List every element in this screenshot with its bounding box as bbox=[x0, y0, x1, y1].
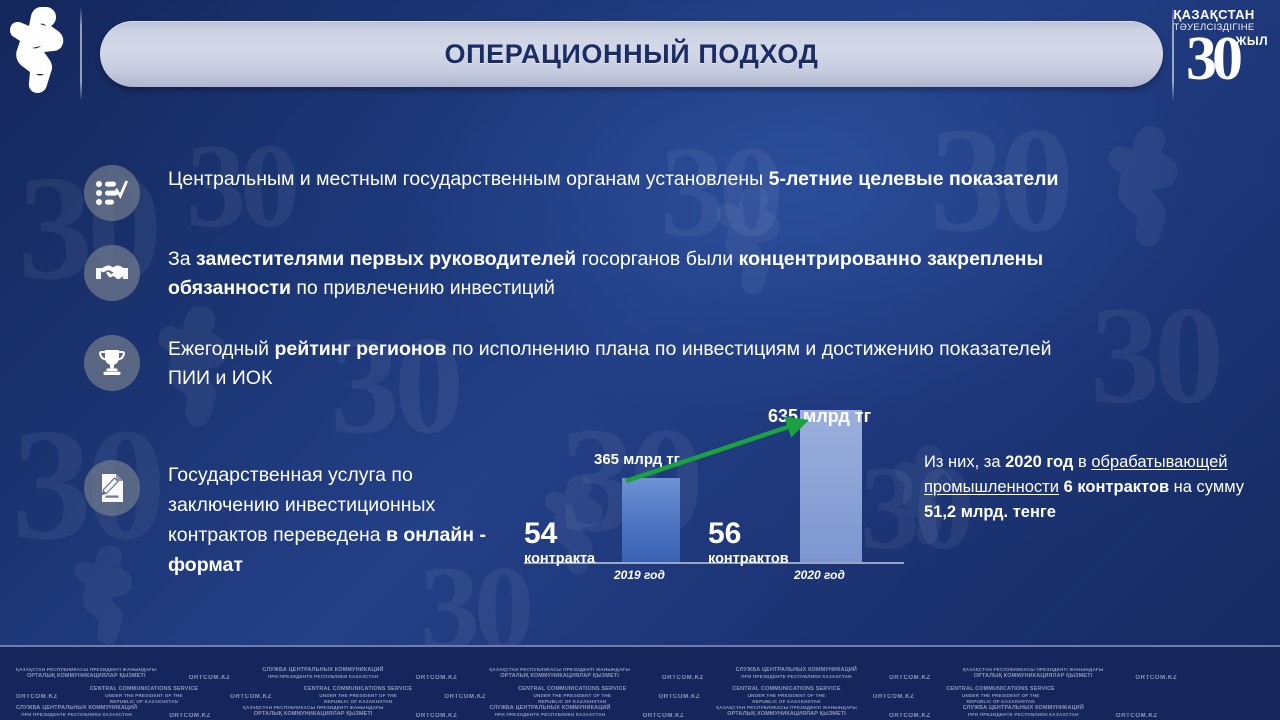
slide-header: ОПЕРАЦИОННЫЙ ПОДХОД ҚАЗАҚСТАН ТӘУЕЛСІЗДІ… bbox=[0, 0, 1280, 108]
bullet-2-part-0: За bbox=[168, 248, 196, 270]
note-part-6: на сумму bbox=[1169, 478, 1244, 496]
footer-en-text: CENTRAL COMMUNICATIONS SERVICEUNDER THE … bbox=[288, 686, 428, 705]
anniversary-unit: ЖЫЛ bbox=[1235, 34, 1268, 48]
footer-en-text: CENTRAL COMMUNICATIONS SERVICEUNDER THE … bbox=[502, 686, 642, 705]
bullet-text-targets: Центральным и местным государственным ор… bbox=[168, 165, 1059, 194]
page-title: ОПЕРАЦИОННЫЙ ПОДХОД bbox=[445, 39, 819, 70]
watermark-leopard-icon bbox=[1090, 120, 1200, 270]
footer-brand: ORTCOM.KZ bbox=[646, 667, 720, 685]
footer-brand: ORTCOM.KZ bbox=[400, 705, 474, 720]
footer-brand: ORTCOM.KZ bbox=[0, 686, 74, 704]
bullet-2-part-2: госорганов были bbox=[582, 248, 739, 270]
checklist-icon bbox=[84, 165, 140, 221]
footer-en-text: CENTRAL COMMUNICATIONS SERVICEUNDER THE … bbox=[930, 686, 1070, 705]
footer-brand: ORTCOM.KZ bbox=[873, 705, 947, 720]
footer-brand: ORTCOM.KZ bbox=[1100, 705, 1174, 720]
footer-watermark-strip: ҚАЗАҚСТАН РЕСПУБЛИКАСЫ ПРЕЗИДЕНТІ ЖАНЫНД… bbox=[0, 645, 1280, 720]
bullet-text-online-service: Государственная услуга по заключению инв… bbox=[168, 460, 514, 580]
footer-ru-text: СЛУЖБА ЦЕНТРАЛЬНЫХ КОММУНИКАЦИЙПРИ ПРЕЗИ… bbox=[947, 705, 1100, 718]
slide-title-pill: ОПЕРАЦИОННЫЙ ПОДХОД bbox=[100, 21, 1163, 87]
bullet-item-responsibility: За заместителями первых руководителей го… bbox=[84, 245, 1094, 303]
footer-brand: ORTCOM.KZ bbox=[214, 686, 288, 704]
footer-brand: ORTCOM.KZ bbox=[643, 686, 717, 704]
bullet-item-targets: Центральным и местным государственным ор… bbox=[84, 165, 1094, 221]
header-divider-left bbox=[80, 8, 82, 100]
manufacturing-note: Из них, за 2020 год в обрабатывающей про… bbox=[924, 450, 1244, 525]
bullet-text-rating: Ежегодный рейтинг регионов по исполнению… bbox=[168, 335, 1094, 393]
anniversary-logo: ҚАЗАҚСТАН ТӘУЕЛСІЗДІГІНЕ 30 ЖЫЛ bbox=[1158, 8, 1270, 100]
footer-kz-text: ҚАЗАҚСТАН РЕСПУБЛИКАСЫ ПРЕЗИДЕНТІ ЖАНЫНД… bbox=[0, 667, 173, 680]
snow-leopard-emblem-icon bbox=[10, 4, 72, 102]
footer-kz-text: ҚАЗАҚСТАН РЕСПУБЛИКАСЫ ПРЕЗИДЕНТІ ЖАНЫНД… bbox=[473, 667, 646, 680]
note-part-2: в bbox=[1073, 453, 1091, 471]
contract-sign-icon bbox=[84, 460, 140, 516]
bullet-item-online-service: Государственная услуга по заключению инв… bbox=[84, 460, 514, 580]
investment-bar-chart: 54 контракта 56 контрактов 365 млрд тг 6… bbox=[510, 398, 910, 590]
footer-brand: ORTCOM.KZ bbox=[627, 705, 701, 720]
footer-en-text: CENTRAL COMMUNICATIONS SERVICEUNDER THE … bbox=[716, 686, 856, 705]
slide-root: 30 30 30 30 30 30 30 30 30 30 bbox=[0, 0, 1280, 720]
footer-brand: ORTCOM.KZ bbox=[873, 667, 947, 685]
footer-ru-text: СЛУЖБА ЦЕНТРАЛЬНЫХ КОММУНИКАЦИЙПРИ ПРЕЗИ… bbox=[0, 705, 153, 718]
note-part-5: 6 контрактов bbox=[1064, 478, 1170, 496]
footer-row-3: СЛУЖБА ЦЕНТРАЛЬНЫХ КОММУНИКАЦИЙПРИ ПРЕЗИ… bbox=[0, 705, 1280, 720]
note-part-1: 2020 год bbox=[1005, 453, 1073, 471]
bullet-2-part-1: заместителями первых руководителей bbox=[196, 248, 582, 270]
footer-brand: ORTCOM.KZ bbox=[400, 667, 474, 685]
footer-brand: ORTCOM.KZ bbox=[857, 686, 931, 704]
footer-row-2: ORTCOM.KZCENTRAL COMMUNICATIONS SERVICEU… bbox=[0, 686, 1280, 705]
footer-en-text: CENTRAL COMMUNICATIONS SERVICEUNDER THE … bbox=[74, 686, 214, 705]
footer-brand: ORTCOM.KZ bbox=[153, 705, 227, 720]
bullet-item-rating: Ежегодный рейтинг регионов по исполнению… bbox=[84, 335, 1094, 393]
footer-row-1: ҚАЗАҚСТАН РЕСПУБЛИКАСЫ ПРЕЗИДЕНТІ ЖАНЫНД… bbox=[0, 667, 1280, 685]
footer-kz-text: ҚАЗАҚСТАН РЕСПУБЛИКАСЫ ПРЕЗИДЕНТІ ЖАНЫНД… bbox=[227, 705, 400, 718]
anniversary-line1: ҚАЗАҚСТАН bbox=[1158, 8, 1270, 22]
bullet-1-part-0: Центральным и местным государственным ор… bbox=[168, 168, 769, 190]
bullet-2-part-4: по привлечению инвестиций bbox=[296, 277, 555, 299]
growth-arrow-icon bbox=[510, 398, 910, 590]
note-part-7: 51,2 млрд. тенге bbox=[924, 503, 1056, 521]
bullet-1-part-1: 5-летние целевые показатели bbox=[769, 168, 1059, 190]
note-part-0: Из них, за bbox=[924, 453, 1005, 471]
footer-ru-text: СЛУЖБА ЦЕНТРАЛЬНЫХ КОММУНИКАЦИЙПРИ ПРЕЗИ… bbox=[473, 705, 626, 718]
bullet-3-part-0: Ежегодный bbox=[168, 338, 274, 360]
trophy-icon bbox=[84, 335, 140, 391]
handshake-icon bbox=[84, 245, 140, 301]
footer-ru-text: СЛУЖБА ЦЕНТРАЛЬНЫХ КОММУНИКАЦИЙПРИ ПРЕЗИ… bbox=[246, 667, 399, 680]
bullet-3-part-1: рейтинг регионов bbox=[274, 338, 451, 360]
footer-brand: ORTCOM.KZ bbox=[428, 686, 502, 704]
footer-ru-text: СЛУЖБА ЦЕНТРАЛЬНЫХ КОММУНИКАЦИЙПРИ ПРЕЗИ… bbox=[720, 667, 873, 680]
footer-brand: ORTCOM.KZ bbox=[173, 667, 247, 685]
watermark-30: 30 bbox=[1090, 300, 1218, 412]
footer-kz-text: ҚАЗАҚСТАН РЕСПУБЛИКАСЫ ПРЕЗИДЕНТІ ЖАНЫНД… bbox=[947, 667, 1120, 680]
footer-brand: ORTCOM.KZ bbox=[1119, 667, 1193, 685]
footer-kz-text: ҚАЗАҚСТАН РЕСПУБЛИКАСЫ ПРЕЗИДЕНТІ ЖАНЫНД… bbox=[700, 705, 873, 718]
bullet-text-responsibility: За заместителями первых руководителей го… bbox=[168, 245, 1094, 303]
